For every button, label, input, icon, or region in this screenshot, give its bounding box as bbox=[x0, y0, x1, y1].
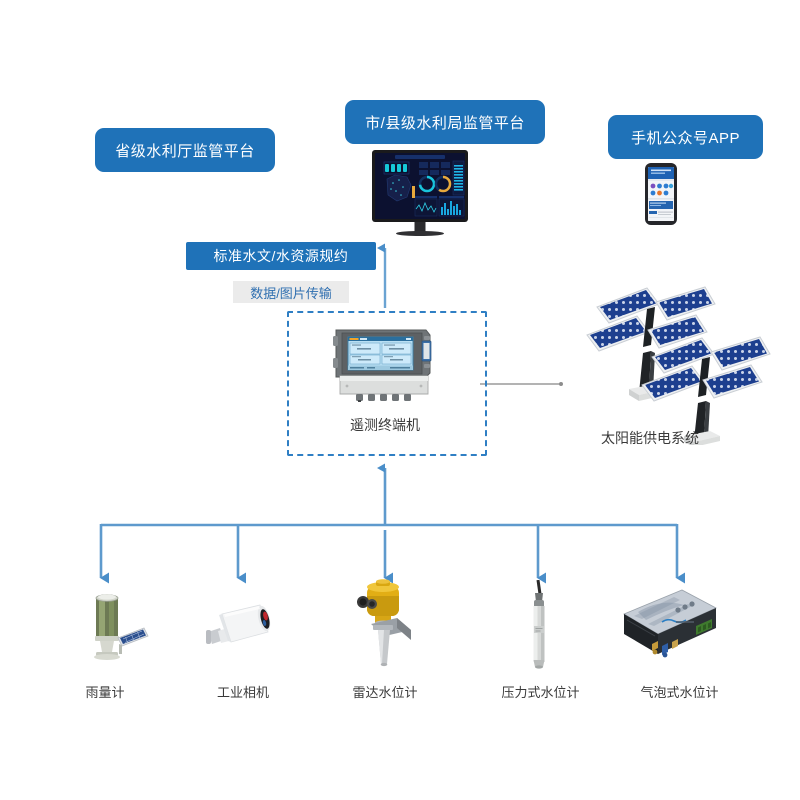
sensor-label-bubbler-level: 气泡式水位计 bbox=[640, 685, 718, 700]
sensor-rain-gauge bbox=[78, 588, 152, 664]
rain-gauge-graphic bbox=[78, 588, 152, 664]
solar-graphic bbox=[585, 285, 775, 445]
platform-card-province[interactable]: 省级水利厅监管平台 bbox=[95, 128, 275, 172]
rtu-label: 遥测终端机 bbox=[350, 417, 420, 433]
antenna-tip bbox=[559, 382, 563, 386]
monitor-bezel bbox=[372, 150, 468, 222]
platform-label-city: 市/县级水利局监管平台 bbox=[365, 112, 525, 133]
sensor-label-pressure-level: 压力式水位计 bbox=[501, 685, 579, 700]
transmission-label: 数据/图片传输 bbox=[250, 283, 332, 302]
diagram-canvas: 省级水利厅监管平台 市/县级水利局监管平台 手机公众号APP bbox=[0, 0, 800, 800]
monitor-screen bbox=[375, 153, 465, 219]
dashboard-graphic bbox=[375, 153, 465, 219]
monitor-stand-base bbox=[396, 231, 444, 236]
platform-card-app[interactable]: 手机公众号APP bbox=[608, 115, 763, 159]
rtu-graphic bbox=[330, 326, 438, 402]
sensor-label-rain-gauge: 雨量计 bbox=[85, 685, 124, 700]
sensor-caption-bubbler-level: 气泡式水位计 bbox=[622, 682, 737, 701]
bubbler-level-graphic bbox=[618, 586, 722, 662]
industrial-camera-graphic bbox=[204, 598, 284, 658]
radar-level-graphic bbox=[345, 578, 425, 668]
platform-card-city[interactable]: 市/县级水利局监管平台 bbox=[345, 100, 545, 144]
platform-label-app: 手机公众号APP bbox=[631, 127, 740, 148]
sensor-caption-radar-level: 雷达水位计 bbox=[335, 682, 435, 701]
phone-illustration bbox=[645, 163, 677, 225]
phone-screen bbox=[648, 167, 674, 221]
sensor-pressure-level bbox=[522, 580, 556, 670]
pressure-level-graphic bbox=[522, 580, 556, 670]
sensor-industrial-camera bbox=[204, 598, 284, 658]
solar-caption: 太阳能供电系统 bbox=[520, 428, 780, 448]
solar-label: 太阳能供电系统 bbox=[601, 430, 699, 446]
sensor-label-radar-level: 雷达水位计 bbox=[352, 685, 417, 700]
sensor-caption-industrial-camera: 工业相机 bbox=[193, 682, 293, 701]
sensor-caption-rain-gauge: 雨量计 bbox=[55, 682, 155, 701]
monitor-illustration bbox=[372, 150, 468, 238]
sensor-caption-pressure-level: 压力式水位计 bbox=[483, 682, 598, 701]
protocol-label-box: 标准水文/水资源规约 bbox=[186, 242, 376, 270]
solar-illustration bbox=[585, 285, 775, 445]
protocol-label: 标准水文/水资源规约 bbox=[214, 246, 349, 266]
app-graphic bbox=[648, 167, 674, 221]
sensor-radar-level bbox=[345, 578, 425, 668]
rtu-illustration bbox=[330, 326, 438, 402]
rtu-caption: 遥测终端机 bbox=[310, 415, 460, 435]
sensor-label-industrial-camera: 工业相机 bbox=[217, 685, 269, 700]
transmission-label-box: 数据/图片传输 bbox=[233, 281, 349, 303]
sensor-bubbler-level bbox=[618, 586, 722, 662]
platform-label-province: 省级水利厅监管平台 bbox=[115, 140, 255, 161]
